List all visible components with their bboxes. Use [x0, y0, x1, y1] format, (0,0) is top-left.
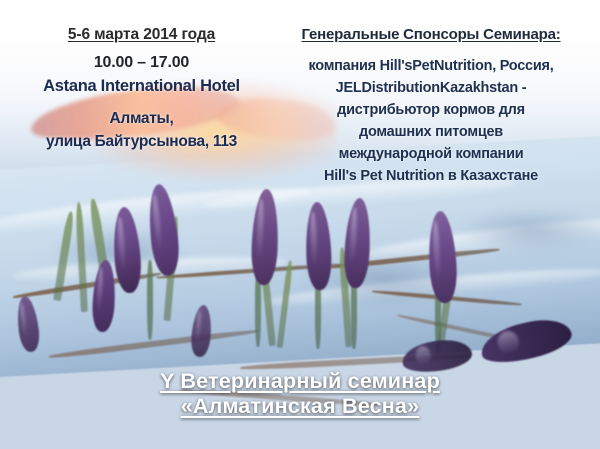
sponsors-block: Генеральные Спонсоры Семинара: компания …: [268, 26, 594, 187]
sponsor-line: Hill's Pet Nutrition в Казахстане: [268, 165, 594, 187]
seminar-title-line-2: «Алматинская Весна»: [181, 394, 420, 419]
event-time: 10.00 – 17.00: [14, 54, 269, 72]
event-date: 5-6 марта 2014 года: [14, 26, 269, 44]
event-address: улица Байтурсынова, 113: [14, 133, 269, 151]
event-info-block: 5-6 марта 2014 года 10.00 – 17.00 Astana…: [14, 26, 269, 151]
event-venue: Astana International Hotel: [14, 77, 269, 96]
sponsors-list: компания Hill'sPetNutrition, Россия, JEL…: [268, 55, 594, 187]
seminar-title-block: Y Ветеринарный семинар «Алматинская Весн…: [0, 369, 600, 419]
poster-text-layer: 5-6 марта 2014 года 10.00 – 17.00 Astana…: [0, 0, 600, 449]
sponsor-line: международной компании: [268, 143, 594, 165]
poster-image: 5-6 марта 2014 года 10.00 – 17.00 Astana…: [0, 0, 600, 449]
seminar-title-line-1: Y Ветеринарный семинар: [160, 369, 440, 394]
sponsor-line: домашних питомцев: [268, 121, 594, 143]
sponsor-line: дистрибьютор кормов для: [268, 99, 594, 121]
event-city: Алматы,: [14, 110, 269, 128]
sponsor-line: JELDistributionKazakhstan -: [268, 77, 594, 99]
sponsors-heading: Генеральные Спонсоры Семинара:: [268, 26, 594, 43]
sponsor-line: компания Hill'sPetNutrition, Россия,: [268, 55, 594, 77]
